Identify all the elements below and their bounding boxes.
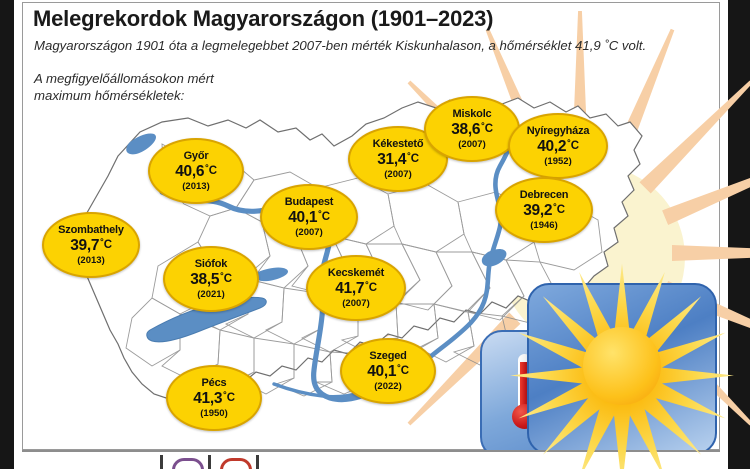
station-city-label: Szeged [369, 351, 406, 362]
station-temperature-value: 41,3˚C [193, 391, 235, 407]
sun-core-icon [583, 327, 661, 405]
station-bubble-gyor[interactable]: Győr40,6˚C(2013) [148, 138, 244, 204]
infographic-poster: Melegrekordok Magyarországon (1901–2023)… [0, 0, 750, 469]
station-city-label: Debrecen [520, 190, 569, 201]
station-bubble-pecs[interactable]: Pécs41,3˚C(1950) [166, 365, 262, 431]
station-temperature-unit: ˚C [318, 211, 330, 223]
footer-logo-strip [22, 452, 720, 469]
sun-tile [527, 283, 717, 455]
station-year-label: (1950) [200, 409, 227, 419]
station-temperature-value: 40,2˚C [537, 139, 579, 155]
station-city-label: Győr [184, 151, 209, 162]
station-temperature-value: 31,4˚C [377, 152, 419, 168]
station-bubble-kecskemet[interactable]: Kecskemét41,7˚C(2007) [306, 255, 406, 321]
station-year-label: (2013) [182, 182, 209, 192]
logo-arc-purple [172, 458, 204, 469]
station-year-label: (2007) [295, 228, 322, 238]
station-year-label: (2013) [77, 256, 104, 266]
station-bubble-szeged[interactable]: Szeged40,1˚C(2022) [340, 338, 436, 404]
page-title: Melegrekordok Magyarországon (1901–2023) [33, 6, 493, 32]
station-year-label: (2007) [458, 140, 485, 150]
station-city-label: Kékestető [373, 139, 424, 150]
left-border-band [0, 0, 14, 469]
station-temperature-unit: ˚C [100, 239, 112, 251]
station-temperature-unit: ˚C [365, 282, 377, 294]
station-temperature-unit: ˚C [205, 165, 217, 177]
station-bubble-siofok[interactable]: Siófok38,5˚C(2021) [163, 246, 259, 312]
station-year-label: (2007) [384, 170, 411, 180]
station-city-label: Siófok [195, 259, 227, 270]
station-temperature-value: 39,7˚C [70, 238, 112, 254]
station-city-label: Miskolc [453, 109, 492, 120]
station-city-label: Kecskemét [328, 268, 384, 279]
logo-stem-left [160, 455, 163, 469]
station-temperature-unit: ˚C [220, 273, 232, 285]
station-temperature-unit: ˚C [407, 153, 419, 165]
station-bubble-nyiregyhaza[interactable]: Nyíregyháza40,2˚C(1952) [508, 113, 608, 179]
station-temperature-value: 38,5˚C [190, 272, 232, 288]
station-bubble-debrecen[interactable]: Debrecen39,2˚C(1946) [495, 177, 593, 243]
station-temperature-unit: ˚C [481, 123, 493, 135]
station-temperature-value: 40,1˚C [288, 210, 330, 226]
station-temperature-value: 38,6˚C [451, 122, 493, 138]
station-year-label: (1952) [544, 157, 571, 167]
station-temperature-unit: ˚C [223, 392, 235, 404]
logo-stem-right [256, 455, 259, 469]
station-temperature-unit: ˚C [397, 365, 409, 377]
station-city-label: Budapest [285, 197, 334, 208]
station-city-label: Szombathely [58, 225, 124, 236]
station-temperature-unit: ˚C [567, 140, 579, 152]
station-bubble-miskolc[interactable]: Miskolc38,6˚C(2007) [424, 96, 520, 162]
right-border-band [728, 0, 750, 469]
station-year-label: (1946) [530, 221, 557, 231]
station-city-label: Nyíregyháza [527, 126, 590, 137]
subtitle-text: Magyarországon 1901 óta a legmelegebbet … [34, 38, 646, 53]
logo-arc-red [220, 458, 252, 469]
station-bubble-budapest[interactable]: Budapest40,1˚C(2007) [260, 184, 358, 250]
station-year-label: (2007) [342, 299, 369, 309]
station-temperature-value: 40,6˚C [175, 164, 217, 180]
station-temperature-value: 41,7˚C [335, 281, 377, 297]
station-bubble-szombathely[interactable]: Szombathely39,7˚C(2013) [42, 212, 140, 278]
logo-stem-middle [208, 455, 211, 469]
station-temperature-value: 39,2˚C [523, 203, 565, 219]
station-city-label: Pécs [202, 378, 227, 389]
station-temperature-unit: ˚C [553, 204, 565, 216]
station-year-label: (2022) [374, 382, 401, 392]
station-temperature-value: 40,1˚C [367, 364, 409, 380]
station-year-label: (2021) [197, 290, 224, 300]
